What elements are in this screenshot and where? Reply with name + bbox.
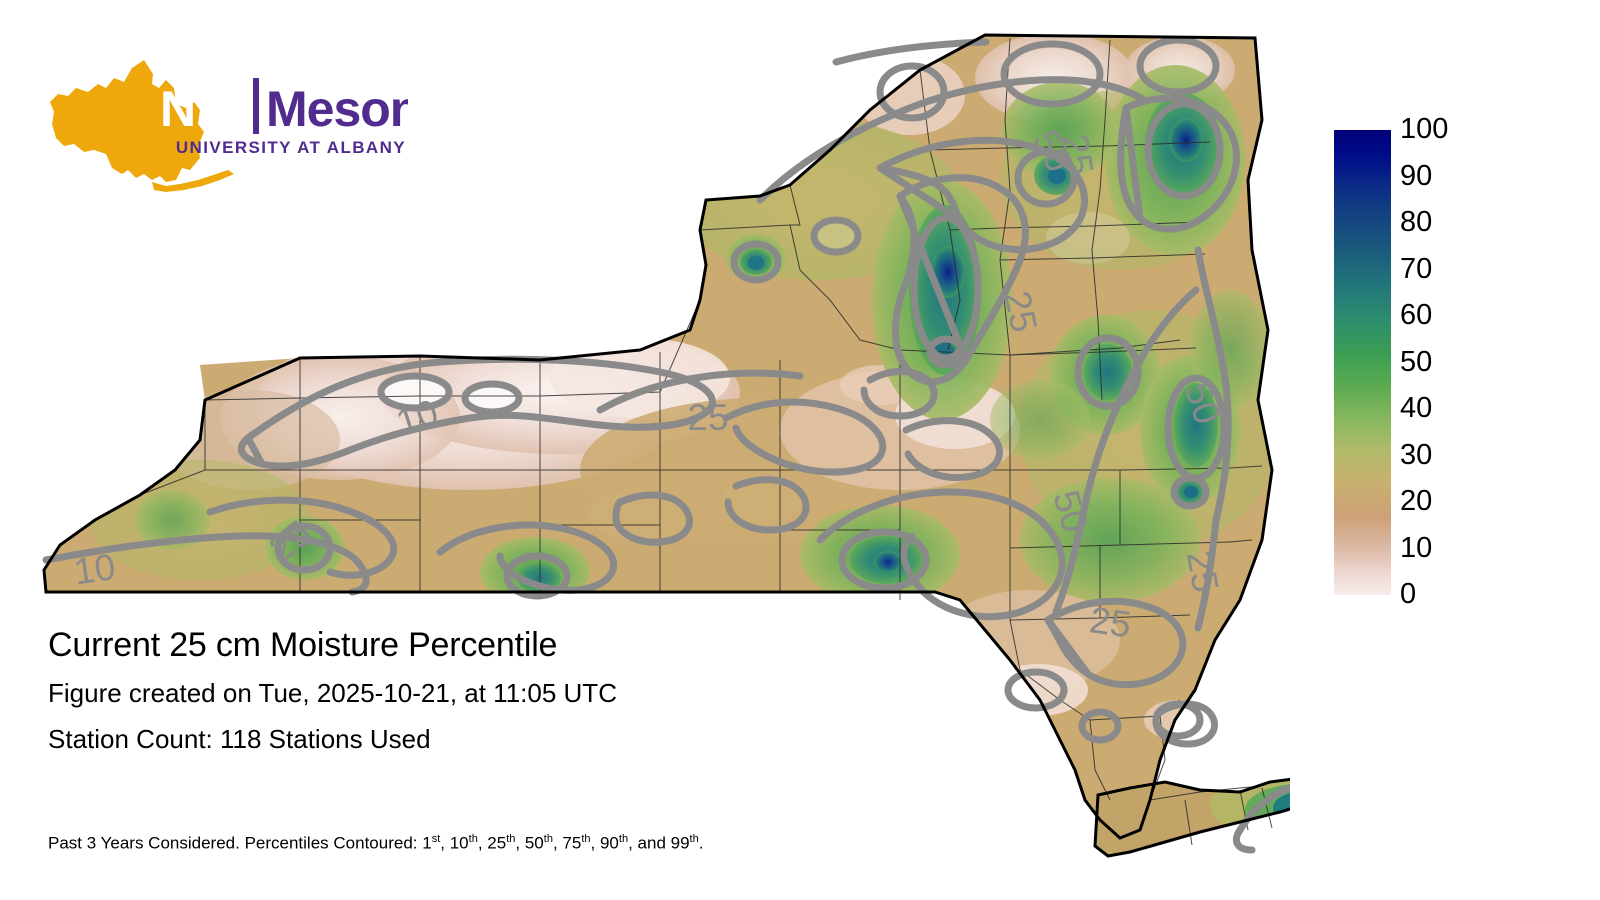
contour-label-10-1: 10 xyxy=(71,546,117,592)
colorbar-tick-30: 30 xyxy=(1400,441,1478,470)
colorbar-tick-50: 50 xyxy=(1400,348,1478,377)
footnote-ordinal-suffix-75: th xyxy=(581,833,590,845)
footnote-percentile-10: 10 xyxy=(450,834,469,853)
colorbar-tick-10: 10 xyxy=(1400,534,1478,563)
figure-caption-block: Current 25 cm Moisture Percentile Figure… xyxy=(48,624,1048,758)
colorbar-tick-60: 60 xyxy=(1400,301,1478,330)
colorbar-gradient xyxy=(1334,130,1391,595)
contour-label-25-10: 25 xyxy=(1087,599,1133,645)
colorbar-tick-0: 0 xyxy=(1400,580,1478,609)
footnote-ordinal-suffix-25: th xyxy=(506,833,515,845)
nys-mesonet-logo: NYS Mesonet UNIVERSITY AT ALBANY xyxy=(48,58,408,193)
contour-levels-footnote: Past 3 Years Considered. Percentiles Con… xyxy=(48,828,703,855)
logo-nys-text: NYS xyxy=(160,81,260,137)
station-count-line: Station Count: 118 Stations Used xyxy=(48,720,1048,758)
footnote-ordinal-suffix-99: th xyxy=(690,833,699,845)
logo-tagline-text: UNIVERSITY AT ALBANY xyxy=(176,138,406,157)
footnote-percentile-50: 50 xyxy=(525,834,544,853)
footnote-percentile-1: 1 xyxy=(422,834,431,853)
footnote-percentile-99: 99 xyxy=(671,834,690,853)
contour-label-25-4: 25 xyxy=(996,287,1045,336)
percentile-colorbar: 1009080706050403020100 xyxy=(1320,110,1520,615)
footnote-ordinal-suffix-50: th xyxy=(544,833,553,845)
footnote-percentile-25: 25 xyxy=(487,834,506,853)
footnote-percentile-90: 90 xyxy=(600,834,619,853)
colorbar-tick-40: 40 xyxy=(1400,394,1478,423)
footnote-percentile-75: 75 xyxy=(562,834,581,853)
colorbar-tick-70: 70 xyxy=(1400,255,1478,284)
footnote-ordinal-suffix-1: st xyxy=(432,833,441,845)
footnote-ordinal-suffix-90: th xyxy=(619,833,628,845)
colorbar-tick-90: 90 xyxy=(1400,162,1478,191)
contour-label-25-9: 25 xyxy=(1179,548,1227,596)
colorbar-tick-80: 80 xyxy=(1400,208,1478,237)
contour-label-25-3: 25 xyxy=(687,397,728,438)
creation-timestamp-line: Figure created on Tue, 2025-10-21, at 11… xyxy=(48,674,1048,712)
footnote-ordinal-suffix-10: th xyxy=(469,833,478,845)
page-title: Current 25 cm Moisture Percentile xyxy=(48,624,1048,666)
colorbar-tick-100: 100 xyxy=(1400,115,1478,144)
colorbar-tick-20: 20 xyxy=(1400,487,1478,516)
logo-mesonet-text: Mesonet xyxy=(266,81,408,137)
